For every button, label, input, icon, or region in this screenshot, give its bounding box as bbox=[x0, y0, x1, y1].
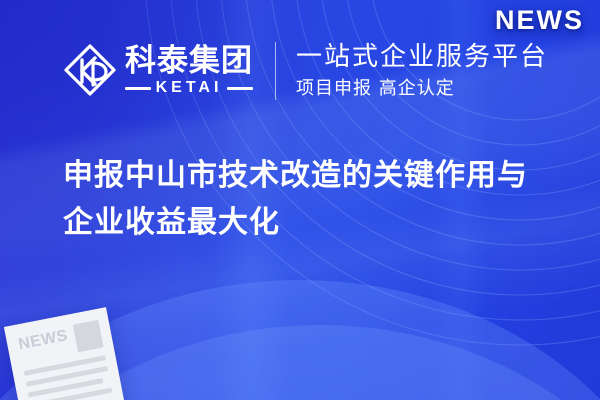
tagline-primary: 一站式企业服务平台 bbox=[296, 42, 548, 73]
headline-line-2: 企业收益最大化 bbox=[63, 199, 563, 246]
newspaper-thumbnail-block bbox=[73, 320, 104, 352]
brand-wordmark: 科泰集团 KETAI bbox=[125, 45, 253, 97]
newspaper-text-lines bbox=[24, 355, 115, 400]
banner-header: 科泰集团 KETAI 一站式企业服务平台 项目申报 高企认定 bbox=[62, 42, 548, 100]
headline: 申报中山市技术改造的关键作用与 企业收益最大化 bbox=[63, 152, 563, 247]
headline-line-1: 申报中山市技术改造的关键作用与 bbox=[63, 152, 563, 199]
news-badge: NEWS bbox=[495, 5, 584, 36]
tagline-secondary: 项目申报 高企认定 bbox=[296, 78, 548, 100]
brand-name-en-row: KETAI bbox=[125, 79, 253, 97]
ketai-diamond-kt-logo-icon bbox=[62, 42, 118, 100]
tagline-block: 一站式企业服务平台 项目申报 高企认定 bbox=[296, 42, 548, 99]
brand-name-cn: 科泰集团 bbox=[125, 45, 253, 77]
news-banner: NEWS 科泰集团 bbox=[0, 0, 600, 400]
newspaper-top-row: NEWS bbox=[17, 320, 104, 363]
wordmark-dash-left bbox=[125, 87, 151, 90]
header-divider bbox=[275, 42, 276, 100]
newspaper-masthead: NEWS bbox=[17, 328, 69, 353]
brand-name-en: KETAI bbox=[156, 79, 223, 97]
wordmark-dash-right bbox=[227, 87, 253, 90]
brand-logo: 科泰集团 KETAI bbox=[62, 42, 253, 100]
